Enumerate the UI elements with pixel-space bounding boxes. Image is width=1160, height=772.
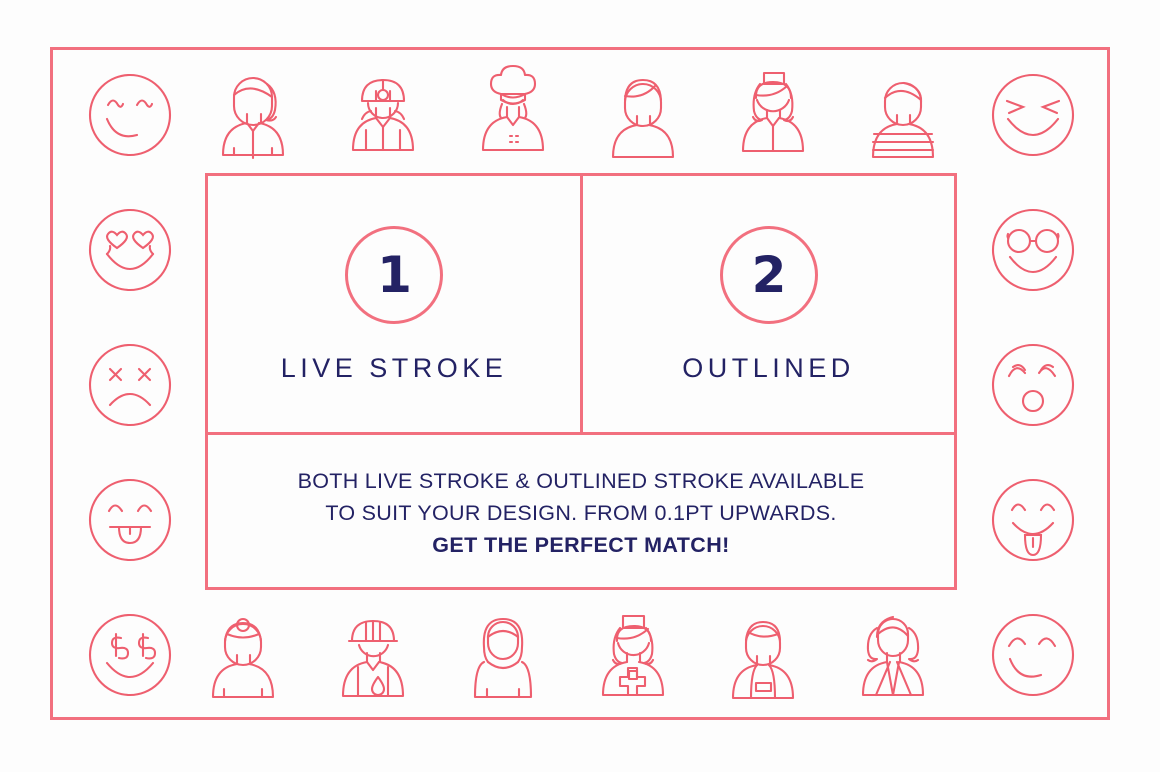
note-line-2: TO SUIT YOUR DESIGN. FROM 0.1PT UPWARDS.	[208, 497, 954, 529]
avatar-flight-attendant-icon	[730, 66, 816, 162]
slot-bottom-1	[200, 613, 286, 703]
slot-right-5	[991, 613, 1075, 697]
avatar-woman-hijab-icon	[460, 613, 546, 703]
slot-top-3	[470, 66, 556, 162]
smiley-heart-eyes-icon	[88, 208, 172, 292]
smiley-squint-laugh-icon	[991, 73, 1075, 157]
slot-top-6	[860, 72, 946, 162]
slot-right-3	[991, 343, 1075, 427]
slot-right-4	[991, 478, 1075, 562]
slot-bottom-2	[330, 613, 416, 703]
avatar-businesswoman-icon	[850, 610, 936, 704]
panel-outlined-label: OUTLINED	[583, 353, 954, 384]
panel-group: 1 LIVE STROKE 2 OUTLINED BOTH LIVE STROK…	[205, 173, 957, 590]
panel-note: BOTH LIVE STROKE & OUTLINED STROKE AVAIL…	[205, 432, 957, 590]
panel-outlined[interactable]: 2 OUTLINED	[580, 173, 957, 435]
smiley-surprised-o-mouth-icon	[991, 343, 1075, 427]
slot-top-4	[600, 72, 686, 162]
number-badge-1: 1	[345, 226, 443, 324]
panel-live-stroke[interactable]: 1 LIVE STROKE	[205, 173, 583, 435]
note-line-1: BOTH LIVE STROKE & OUTLINED STROKE AVAIL…	[208, 465, 954, 497]
smiley-glasses-icon	[991, 208, 1075, 292]
note-line-3: GET THE PERFECT MATCH!	[208, 529, 954, 561]
avatar-man-bun-icon	[200, 613, 286, 703]
slot-bottom-6	[850, 610, 936, 704]
slot-bottom-4	[590, 610, 676, 704]
avatar-worker-apron-icon	[720, 613, 806, 703]
slot-bottom-5	[720, 613, 806, 703]
smiley-tongue-out-icon	[88, 478, 172, 562]
graphic-canvas: 1 LIVE STROKE 2 OUTLINED BOTH LIVE STROK…	[0, 0, 1160, 772]
slot-top-5	[730, 66, 816, 162]
smiley-money-eyes-icon	[88, 613, 172, 697]
slot-bottom-3	[460, 613, 546, 703]
slot-left-2	[88, 208, 172, 292]
slot-left-4	[88, 478, 172, 562]
avatar-woman-ponytail-icon	[210, 70, 296, 162]
panel-live-stroke-label: LIVE STROKE	[208, 353, 580, 384]
avatar-man-cap-icon	[600, 72, 686, 162]
number-badge-2-value: 2	[752, 250, 786, 300]
avatar-firefighter-icon	[340, 70, 426, 162]
slot-left-5	[88, 613, 172, 697]
slot-top-1	[210, 70, 296, 162]
slot-left-3	[88, 343, 172, 427]
avatar-chef-icon	[470, 66, 556, 162]
smiley-dead-x-eyes-icon	[88, 343, 172, 427]
smiley-tongue-big-icon	[991, 478, 1075, 562]
slot-left-1	[88, 73, 172, 157]
slot-right-2	[991, 208, 1075, 292]
slot-right-1	[991, 73, 1075, 157]
avatar-construction-worker-icon	[330, 613, 416, 703]
avatar-nurse-icon	[590, 610, 676, 704]
slot-top-2	[340, 70, 426, 162]
avatar-man-striped-shirt-icon	[860, 72, 946, 162]
smiley-wink-closed-eyes-icon	[88, 73, 172, 157]
smiley-smirk-icon	[991, 613, 1075, 697]
number-badge-2: 2	[720, 226, 818, 324]
note-text-block: BOTH LIVE STROKE & OUTLINED STROKE AVAIL…	[208, 465, 954, 561]
number-badge-1-value: 1	[377, 250, 411, 300]
